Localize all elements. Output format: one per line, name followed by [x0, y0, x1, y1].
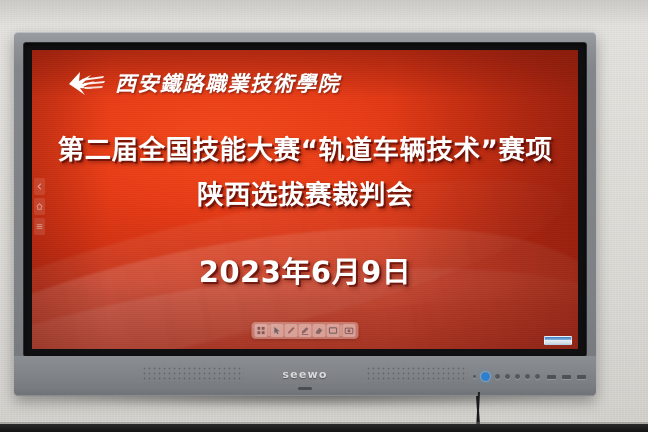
slide-title-line-2: 陕西选拔赛裁判会 [32, 173, 578, 218]
speaker-grille-left [142, 366, 244, 383]
cursor-select-icon[interactable] [271, 324, 284, 337]
side-menu-icon[interactable] [34, 218, 45, 235]
indicator-dot [473, 375, 476, 378]
control-button-4[interactable] [525, 374, 530, 379]
screen-bezel-frame: 西安鐵路職業技術學院 第二届全国技能大赛“轨道车辆技术”赛项 陕西选拔赛裁判会 … [24, 43, 586, 356]
highlighter-icon[interactable] [299, 324, 312, 337]
wall-top-shadow [0, 0, 648, 26]
side-back-icon[interactable] [34, 178, 45, 195]
screen-corner-sticker [544, 336, 572, 345]
control-button-3[interactable] [515, 374, 520, 379]
slide-date: 2023年6月9日 [32, 249, 578, 291]
toolbar-divider [269, 325, 270, 336]
power-button[interactable] [481, 372, 490, 381]
display-chin-bezel: seewo [14, 356, 596, 396]
front-control-row[interactable] [473, 372, 540, 381]
foreground-dark-strip [0, 424, 648, 432]
usb-port-2[interactable] [562, 375, 571, 379]
slide-title-line-1: 第二届全国技能大赛“轨道车辆技术”赛项 [32, 128, 578, 173]
shape-rectangle-icon[interactable] [327, 324, 340, 337]
display-screen[interactable]: 西安鐵路職業技術學院 第二届全国技能大赛“轨道车辆技术”赛项 陕西选拔赛裁判会 … [32, 50, 578, 349]
usb-port-3[interactable] [577, 375, 586, 379]
star-swoosh-logo-icon [66, 70, 106, 96]
side-home-icon[interactable] [34, 198, 45, 215]
ir-receiver [298, 387, 312, 390]
institution-logo: 西安鐵路職業技術學院 [66, 68, 340, 98]
toolbar-divider-2 [341, 325, 342, 336]
front-port-row[interactable] [547, 375, 586, 379]
institution-name: 西安鐵路職業技術學院 [115, 68, 340, 98]
pen-icon[interactable] [285, 324, 298, 337]
side-toolbar[interactable] [34, 178, 45, 235]
brand-logo-text: seewo [282, 368, 327, 381]
interactive-whiteboard-display[interactable]: 西安鐵路職業技術學院 第二届全国技能大赛“轨道车辆技术”赛项 陕西选拔赛裁判会 … [14, 32, 596, 396]
usb-port-1[interactable] [547, 375, 556, 379]
speaker-grille-right [366, 366, 468, 383]
eraser-icon[interactable] [313, 324, 326, 337]
control-button-1[interactable] [495, 374, 500, 379]
control-button-2[interactable] [505, 374, 510, 379]
photo-scene: 西安鐵路職業技術學院 第二届全国技能大赛“轨道车辆技术”赛项 陕西选拔赛裁判会 … [0, 0, 648, 432]
screenshot-icon[interactable] [343, 324, 356, 337]
slide-title: 第二届全国技能大赛“轨道车辆技术”赛项 陕西选拔赛裁判会 [32, 128, 578, 218]
annotation-toolbar[interactable] [252, 322, 359, 339]
control-button-5[interactable] [535, 374, 540, 379]
menu-grid-icon[interactable] [255, 324, 268, 337]
